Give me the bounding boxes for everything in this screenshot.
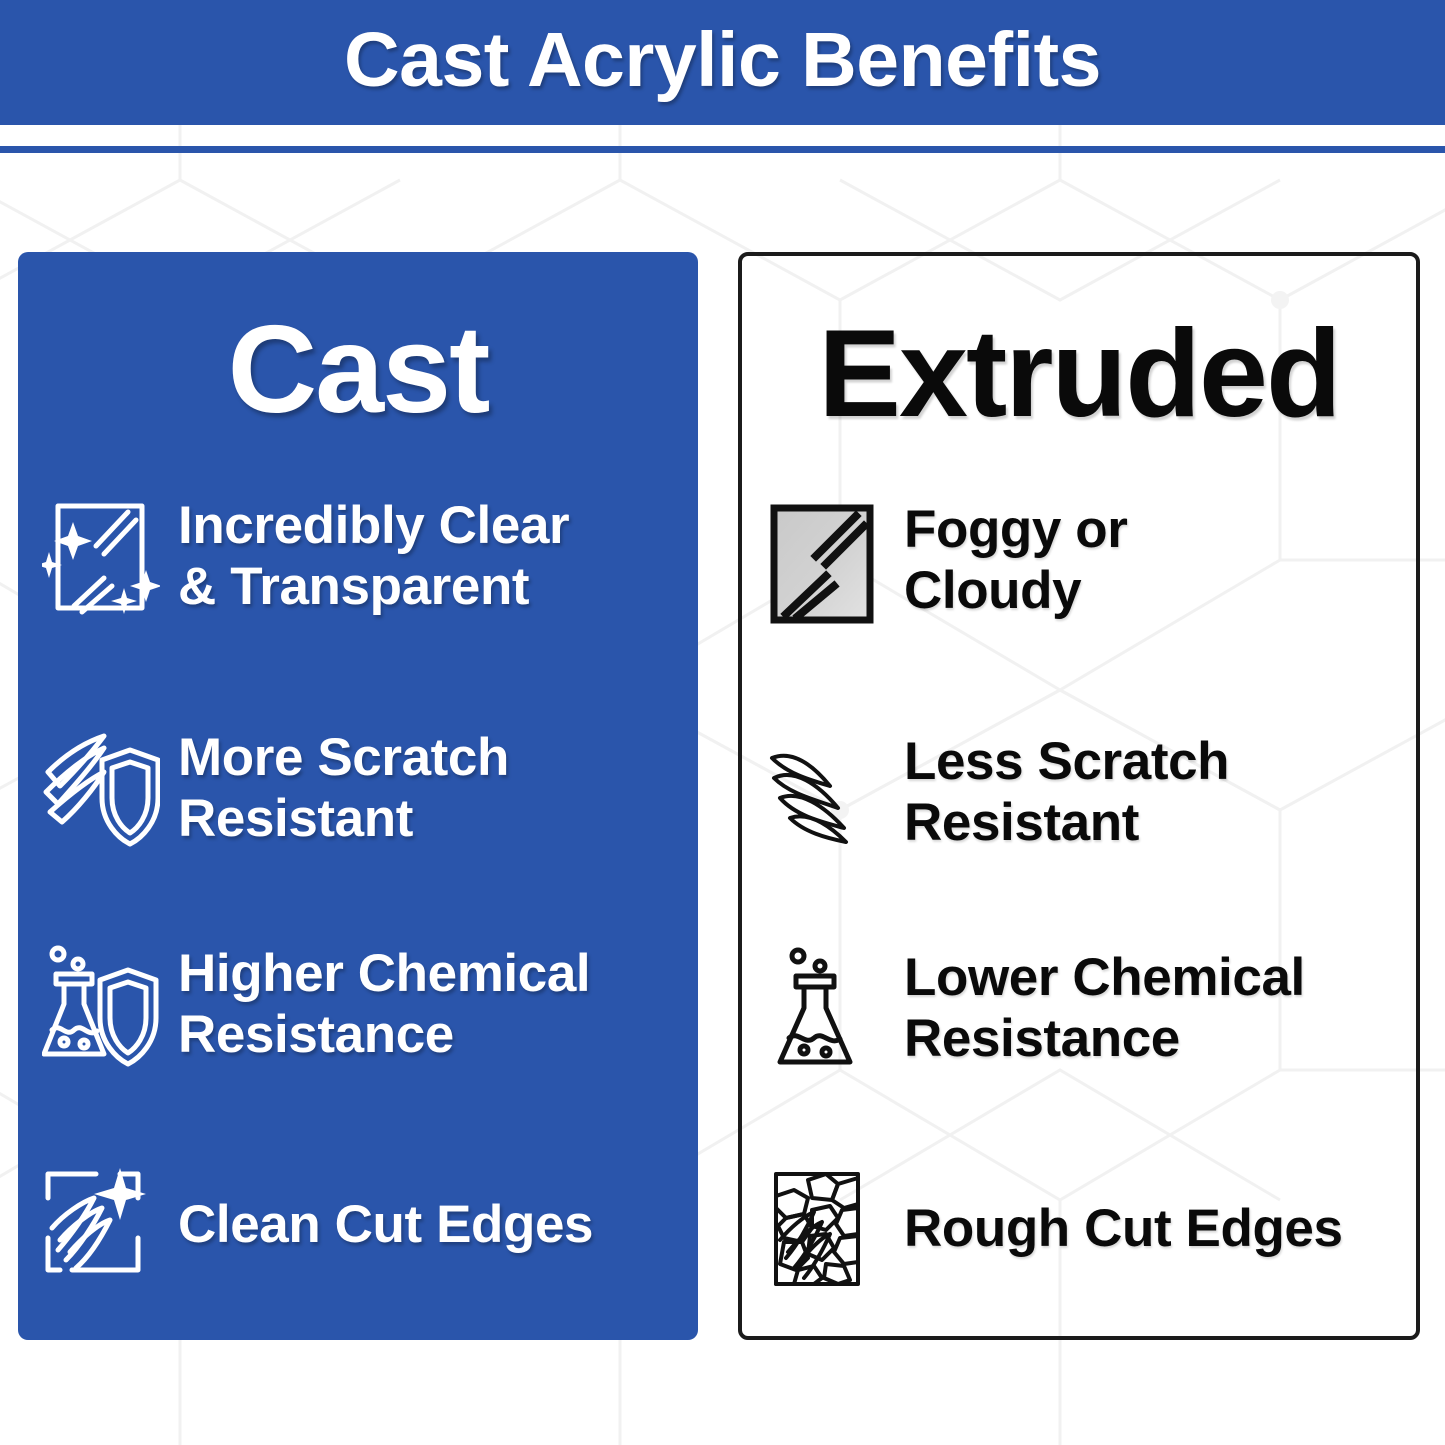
panel-extruded-heading: Extruded: [742, 312, 1416, 436]
panel-extruded: Extruded: [738, 252, 1420, 1340]
feature-row: More Scratch Resistant: [18, 714, 698, 864]
feature-row: Less Scratch Resistant: [742, 718, 1416, 868]
scratch-shield-icon: [42, 726, 160, 852]
panel-cast: Cast: [18, 252, 698, 1340]
feature-label: Incredibly Clear & Transparent: [178, 496, 698, 618]
flask-shield-icon: [42, 942, 160, 1068]
feature-label: Foggy or Cloudy: [904, 500, 1416, 622]
header-banner: Cast Acrylic Benefits: [0, 0, 1445, 125]
feature-row: Lower Chemical Resistance: [742, 934, 1416, 1084]
feature-row: Incredibly Clear & Transparent: [18, 482, 698, 632]
feature-row: Clean Cut Edges: [18, 1150, 698, 1300]
rough-edge-stone-icon: [764, 1166, 882, 1292]
clean-edge-polish-icon: [42, 1162, 160, 1288]
flask-icon: [764, 946, 882, 1072]
feature-row: Foggy or Cloudy: [742, 486, 1416, 636]
feature-label: Rough Cut Edges: [904, 1199, 1416, 1260]
feature-label: Clean Cut Edges: [178, 1195, 698, 1256]
header-divider-rule: [0, 146, 1445, 153]
feature-label: Less Scratch Resistant: [904, 732, 1416, 854]
feature-label: Higher Chemical Resistance: [178, 944, 698, 1066]
panel-cast-heading: Cast: [18, 308, 698, 432]
feature-row: Rough Cut Edges: [742, 1154, 1416, 1304]
feature-row: Higher Chemical Resistance: [18, 930, 698, 1080]
feature-label: Lower Chemical Resistance: [904, 948, 1416, 1070]
comparison-panels: Cast: [0, 0, 1445, 1445]
page-title: Cast Acrylic Benefits: [344, 22, 1101, 99]
clear-glass-sparkle-icon: [42, 494, 160, 620]
feature-label: More Scratch Resistant: [178, 728, 698, 850]
foggy-glass-icon: [764, 498, 882, 624]
scratch-marks-icon: [764, 730, 882, 856]
